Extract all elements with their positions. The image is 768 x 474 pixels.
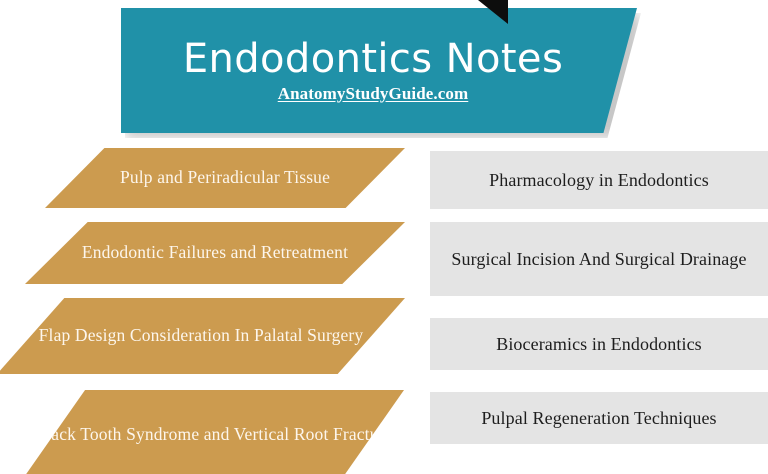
list-item[interactable]: Surgical Incision And Surgical Drainage: [430, 222, 768, 296]
page-title: Endodontics Notes: [183, 38, 575, 80]
page-canvas: Endodontics Notes AnatomyStudyGuide.com …: [0, 0, 768, 474]
topic-label: Pharmacology in Endodontics: [430, 167, 768, 194]
list-item[interactable]: Crack Tooth Syndrome and Vertical Root F…: [22, 390, 404, 474]
topic-label: Pulp and Periradicular Tissue: [45, 164, 405, 191]
list-item[interactable]: Pulpal Regeneration Techniques: [430, 392, 768, 444]
topic-label: Bioceramics in Endodontics: [430, 331, 768, 358]
site-link[interactable]: AnatomyStudyGuide.com: [278, 84, 481, 104]
topic-label: Flap Design Consideration In Palatal Sur…: [0, 322, 405, 349]
list-item[interactable]: Endodontic Failures and Retreatment: [25, 222, 405, 284]
list-item[interactable]: Bioceramics in Endodontics: [430, 318, 768, 370]
list-item[interactable]: Pharmacology in Endodontics: [430, 151, 768, 209]
list-item[interactable]: Flap Design Consideration In Palatal Sur…: [0, 298, 405, 374]
header-banner: Endodontics Notes AnatomyStudyGuide.com: [121, 8, 637, 133]
right-topic-column: Pharmacology in Endodontics Surgical Inc…: [430, 148, 768, 474]
list-item[interactable]: Pulp and Periradicular Tissue: [45, 148, 405, 208]
corner-fold-icon: [478, 0, 508, 24]
topic-label: Crack Tooth Syndrome and Vertical Root F…: [22, 421, 404, 448]
topic-label: Pulpal Regeneration Techniques: [430, 405, 768, 432]
banner-body: Endodontics Notes AnatomyStudyGuide.com: [121, 8, 637, 133]
topic-label: Surgical Incision And Surgical Drainage: [430, 246, 768, 273]
left-topic-column: Pulp and Periradicular Tissue Endodontic…: [0, 148, 430, 474]
topic-label: Endodontic Failures and Retreatment: [25, 239, 405, 266]
